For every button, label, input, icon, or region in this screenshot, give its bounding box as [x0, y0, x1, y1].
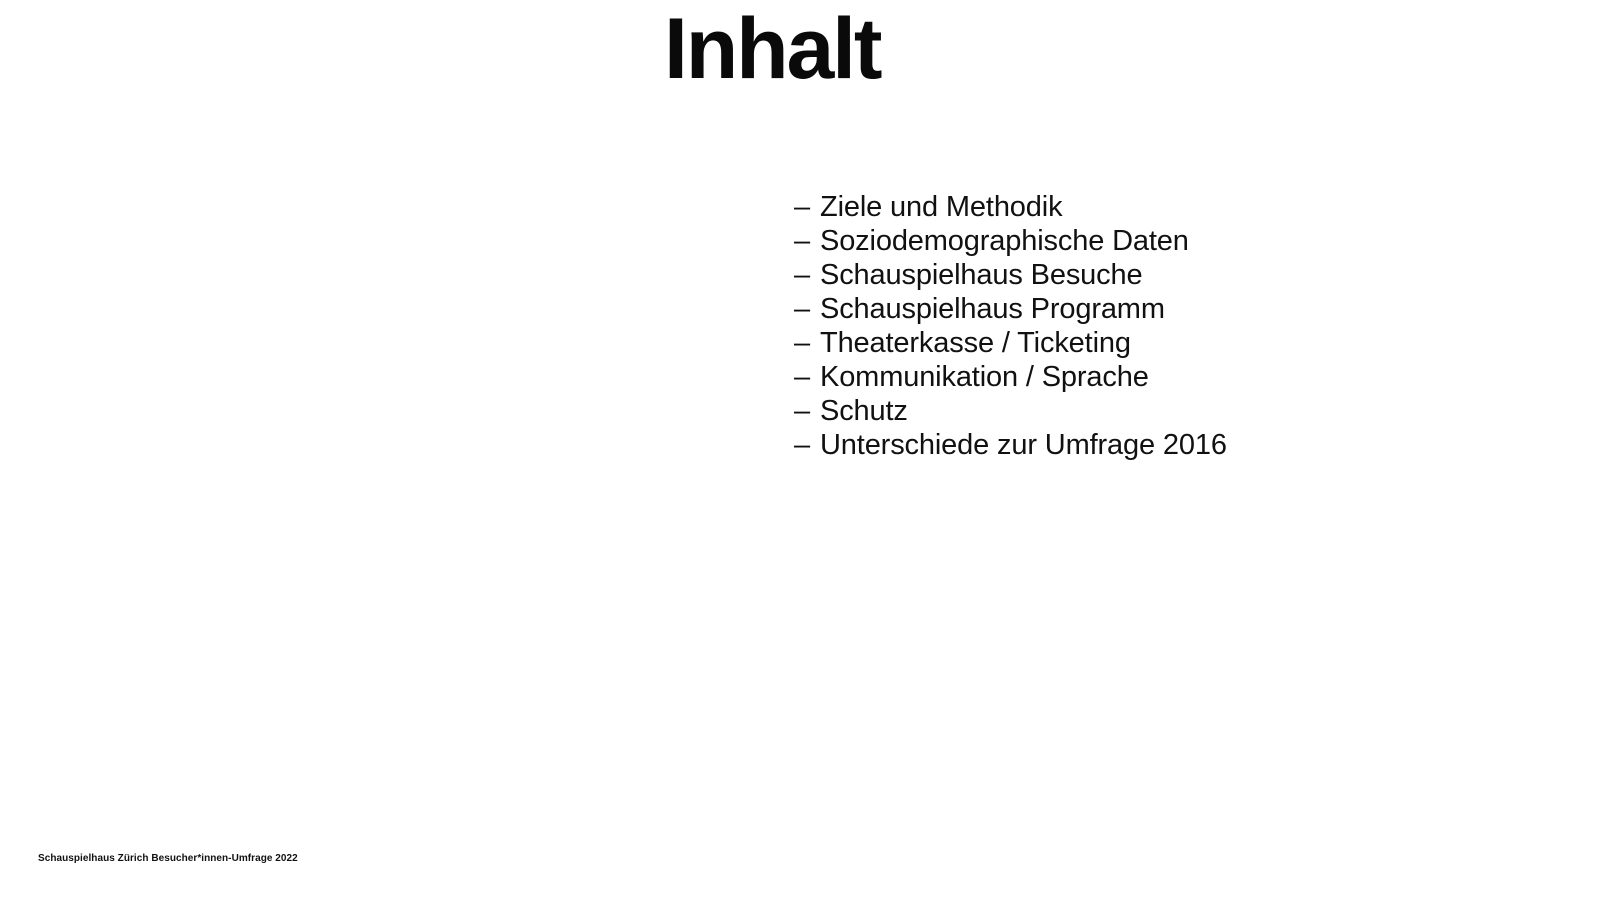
list-item[interactable]: –Unterschiede zur Umfrage 2016: [794, 428, 1227, 462]
agenda-item-label: Ziele und Methodik: [820, 191, 1062, 223]
list-item[interactable]: –Schauspielhaus Besuche: [794, 258, 1227, 292]
dash-icon: –: [794, 258, 820, 292]
dash-icon: –: [794, 292, 820, 326]
agenda-item-label: Kommunikation / Sprache: [820, 361, 1149, 393]
list-item[interactable]: –Theaterkasse / Ticketing: [794, 326, 1227, 360]
agenda-item-label: Theaterkasse / Ticketing: [820, 327, 1131, 359]
dash-icon: –: [794, 428, 820, 462]
list-item[interactable]: –Schauspielhaus Programm: [794, 292, 1227, 326]
agenda-item-label: Schauspielhaus Programm: [820, 293, 1165, 325]
agenda-item-label: Schutz: [820, 395, 908, 427]
dash-icon: –: [794, 394, 820, 428]
list-item[interactable]: –Ziele und Methodik: [794, 190, 1227, 224]
dash-icon: –: [794, 326, 820, 360]
agenda-item-label: Unterschiede zur Umfrage 2016: [820, 429, 1227, 461]
agenda-item-label: Soziodemographische Daten: [820, 225, 1189, 257]
slide-footer: Schauspielhaus Zürich Besucher*innen-Umf…: [38, 852, 298, 866]
dash-icon: –: [794, 360, 820, 394]
agenda-item-label: Schauspielhaus Besuche: [820, 259, 1142, 291]
list-item[interactable]: –Schutz: [794, 394, 1227, 428]
page-title: Inhalt: [664, 4, 880, 94]
slide-canvas: Inhalt –Ziele und Methodik –Soziodemogra…: [0, 0, 1600, 900]
dash-icon: –: [794, 224, 820, 258]
list-item[interactable]: –Kommunikation / Sprache: [794, 360, 1227, 394]
dash-icon: –: [794, 190, 820, 224]
list-item[interactable]: –Soziodemographische Daten: [794, 224, 1227, 258]
agenda-list: –Ziele und Methodik –Soziodemographische…: [794, 190, 1227, 462]
